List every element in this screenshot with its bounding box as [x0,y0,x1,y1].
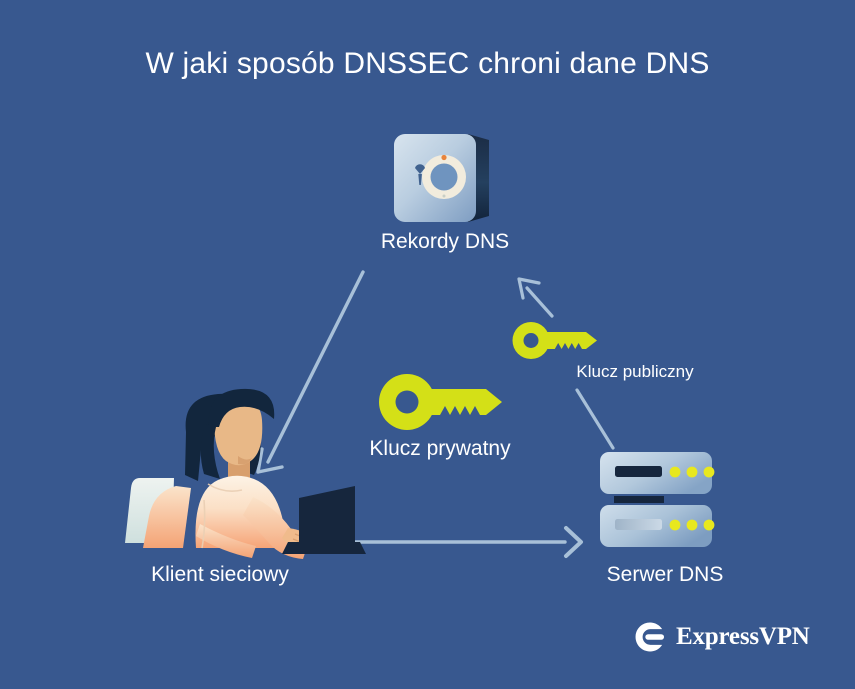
node-label-network-client: Klient sieciowy [40,563,400,587]
person-laptop-icon [125,389,366,559]
expressvpn-logo: ExpressVPN [633,616,793,658]
arrow-client-to-server [340,528,581,556]
node-label-dns-server: Serwer DNS [510,563,820,587]
expressvpn-logo-mark [633,620,667,654]
node-label-dns-records: Rekordy DNS [0,230,855,254]
key-label-public: Klucz publiczny [410,362,855,382]
server-rack-icon [600,452,714,547]
key-icon-private [379,374,502,430]
safe-icon [394,134,489,222]
key-icon-public [513,322,598,359]
infographic-canvas: W jaki sposób DNSSEC chroni dane DNS [0,0,855,689]
key-label-private: Klucz prywatny [270,437,610,461]
expressvpn-wordmark: ExpressVPN [676,623,810,651]
